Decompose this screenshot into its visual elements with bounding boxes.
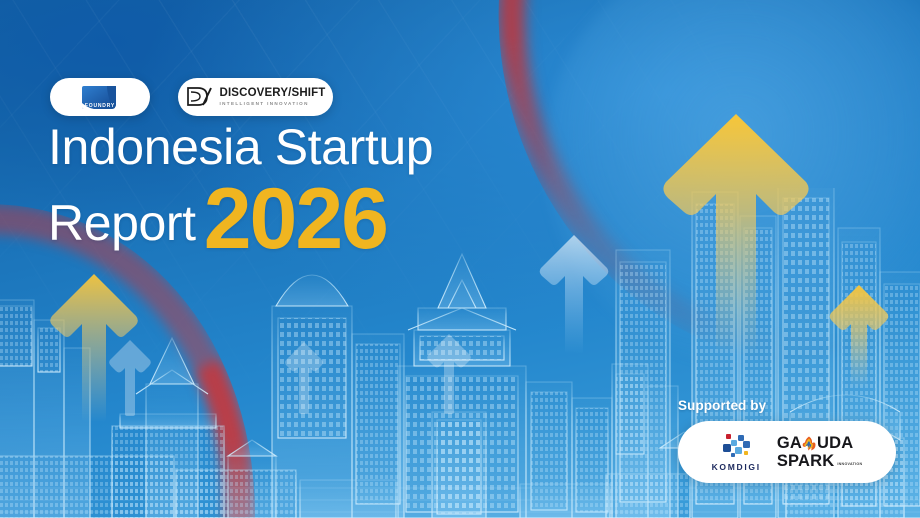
supported-by-block: Supported by KOMDIGI GA: [678, 398, 896, 483]
garuda-spark-bird-icon: [802, 436, 816, 451]
headline-line-1: Indonesia Startup: [48, 122, 433, 172]
discovery-shift-wordmark: DISCOVERY/SHIFT: [220, 88, 326, 100]
garuda-word-part-b: UDA: [817, 435, 853, 452]
garuda-bottom-row: SPARK INNOVATION: [777, 453, 863, 470]
garuda-sub-line-1: INNOVATION: [837, 462, 862, 466]
white-arrow-center-up-icon: [538, 232, 610, 354]
white-arrow-c-up-icon: [426, 332, 472, 414]
supported-by-label: Supported by: [678, 398, 896, 413]
discovery-shift-logo-pill[interactable]: DISCOVERY/SHIFT INTELLIGENT INNOVATION: [178, 78, 333, 116]
garuda-top-row: GA UDA: [777, 435, 863, 452]
hero-arrow-up-icon: [660, 108, 812, 356]
headline-year: 2026: [204, 186, 387, 253]
discovery-shift-text: DISCOVERY/SHIFT INTELLIGENT INNOVATION: [220, 88, 326, 107]
small-yellow-arrow-up-icon: [828, 282, 890, 388]
discovery-shift-tagline: INTELLIGENT INNOVATION: [220, 102, 326, 107]
komdigi-logo[interactable]: KOMDIGI: [712, 433, 761, 472]
foundry-mark: FOUNDRY: [81, 85, 119, 109]
garuda-word-part-a: GA: [777, 435, 802, 452]
garuda-spark-logo[interactable]: GA UDA SPARK INNOVATION: [777, 435, 863, 469]
garuda-word-bottom: SPARK: [777, 453, 835, 470]
foundry-logo-pill[interactable]: FOUNDRY: [50, 78, 150, 116]
white-arrow-b-up-icon: [284, 340, 324, 414]
white-arrow-a-up-icon: [108, 338, 152, 416]
foundry-wordmark: FOUNDRY: [85, 103, 115, 109]
brand-logo-row: FOUNDRY DISCOVERY/SHIFT INTELLIGENT INNO…: [50, 78, 333, 116]
poster-canvas: FOUNDRY DISCOVERY/SHIFT INTELLIGENT INNO…: [0, 0, 920, 518]
headline-line-2: Report: [48, 198, 196, 248]
headline-line-2-row: Report 2026: [48, 178, 433, 248]
discovery-shift-monogram-icon: [186, 85, 213, 109]
poster-headline: Indonesia Startup Report 2026: [48, 122, 433, 248]
supporter-logo-pill[interactable]: KOMDIGI GA UDA SPARK INNOVATION: [678, 421, 896, 483]
komdigi-wordmark: KOMDIGI: [712, 462, 761, 472]
komdigi-pixel-squares-icon: [719, 433, 753, 459]
